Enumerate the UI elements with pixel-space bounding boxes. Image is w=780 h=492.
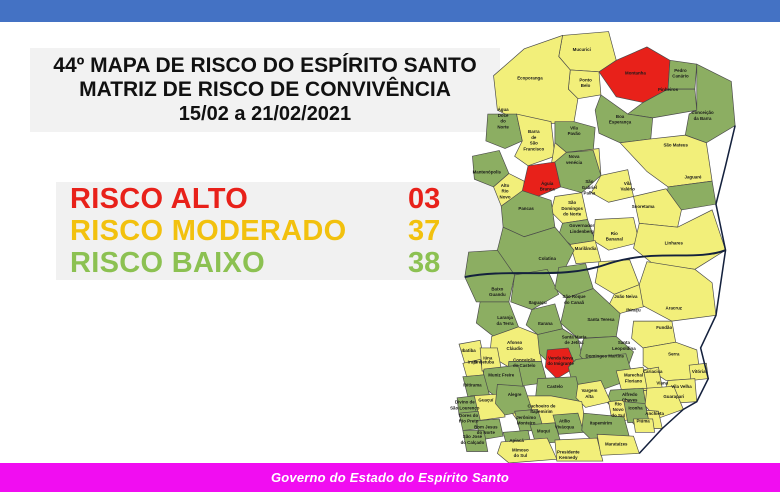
map-label: do xyxy=(500,119,506,124)
municipality-maril-ndia[interactable]: Marilândia xyxy=(570,241,601,264)
map-label: Bom Jesus xyxy=(474,424,498,429)
map-label: Vitória xyxy=(692,369,706,374)
map-label: Francisco xyxy=(523,146,544,151)
map-label: Novo xyxy=(613,407,624,412)
map-label: Norte xyxy=(497,124,509,129)
map-label: Montanha xyxy=(625,71,646,76)
map-label: Monteiro xyxy=(517,421,536,426)
map-label: Palha xyxy=(584,191,596,196)
map-label: Santa Maria xyxy=(562,334,587,339)
map-label: Apiacá xyxy=(509,438,524,443)
map-label: do Imigrante xyxy=(547,361,574,366)
map-label: Itapemirim xyxy=(530,409,552,414)
map-label: Anchieta xyxy=(645,411,664,416)
map-label: Itarana xyxy=(538,321,553,326)
map-label: Vargem xyxy=(581,388,597,393)
map-label: Iúna xyxy=(483,355,493,360)
map-label: Vila xyxy=(570,125,578,130)
map-label: Colatina xyxy=(539,256,557,261)
map-label: do Norte xyxy=(563,212,582,217)
legend-label-baixo: RISCO BAIXO xyxy=(70,247,265,280)
map-label: Leopoldina xyxy=(612,346,636,351)
map-label: Rio xyxy=(611,231,618,236)
map-label: Afonso xyxy=(507,340,522,345)
map-label: Pavão xyxy=(568,131,581,136)
map-label: Ibitirama xyxy=(463,382,482,387)
map-label: Floriano xyxy=(625,378,643,383)
map-label: Muqui xyxy=(537,428,550,433)
map-label: Kennedy xyxy=(559,455,578,460)
map-label: Itapemirim xyxy=(590,421,612,426)
map-label: Aracruz xyxy=(666,306,683,311)
map-label: Baixo xyxy=(491,286,503,291)
map-label: Vila Velha xyxy=(671,384,692,389)
map-label: de Jetibá xyxy=(565,340,585,345)
map-label: Ibiraçu xyxy=(626,308,641,313)
map-label: Ibatiba xyxy=(462,348,477,353)
map-label: Lindenberg xyxy=(570,229,594,234)
map-label: São xyxy=(568,200,576,205)
map-label: Venda Nova xyxy=(548,355,574,360)
map-label: Rio xyxy=(615,401,622,406)
map-label: Ecoporanga xyxy=(517,76,543,81)
map-label: Conceição xyxy=(691,110,714,115)
map-label: Iconha xyxy=(628,405,643,410)
map-label: do Castelo xyxy=(513,363,536,368)
map-label: Marilândia xyxy=(575,246,597,251)
map-label: Marechal xyxy=(624,373,643,378)
map-label: Viana xyxy=(656,380,668,385)
map-label: Governador xyxy=(569,223,594,228)
map-label: Mimoso xyxy=(512,447,529,452)
map-label: Presidente xyxy=(557,449,580,454)
map-label: Barra xyxy=(528,129,540,134)
map-label: Guaçuí xyxy=(478,398,494,403)
map-label: Doce xyxy=(498,113,509,118)
map-label: Sooretama xyxy=(632,204,655,209)
page-title: 44º MAPA DE RISCO DO ESPÍRITO SANTO xyxy=(53,54,476,78)
map-label: Divino de xyxy=(455,400,475,405)
map-label: Gabriel xyxy=(582,185,597,190)
map-label: Novo xyxy=(500,194,511,199)
map-label: Águia xyxy=(541,180,554,186)
map-label: Castelo xyxy=(547,384,563,389)
map-label: Cachoeiro de xyxy=(528,403,556,408)
map-label: Guarapari xyxy=(663,394,684,399)
map-label: Conceição xyxy=(513,357,536,362)
map-label: Belo xyxy=(581,83,591,88)
map-label: Canário xyxy=(672,74,689,79)
map-label: Jaguaré xyxy=(684,174,701,179)
map-label: Dores do xyxy=(459,413,478,418)
map-label: São xyxy=(585,179,593,184)
map-label: do Canaã xyxy=(564,300,584,305)
map-label: do Calçado xyxy=(461,440,485,445)
map-svg: MucuriciPonto BeloMontanhaPedro CanárioP… xyxy=(418,22,780,463)
map-label: Rio xyxy=(501,189,508,194)
map-label: São Mateus xyxy=(663,143,688,148)
map-label: João Neiva xyxy=(614,294,638,299)
map-label: Boa xyxy=(616,114,625,119)
map-label: Mantenópolis xyxy=(473,169,502,174)
map-label: Pancas xyxy=(518,206,534,211)
map-label: Linhares xyxy=(665,240,684,245)
map-label: Laranja xyxy=(497,315,513,320)
map-label: São Lourenço xyxy=(450,405,480,410)
map-label: Domingos Martins xyxy=(586,354,625,359)
map-label: Ponto xyxy=(579,77,592,82)
map-label: venécia xyxy=(566,160,583,165)
map-label: da Terra xyxy=(497,321,515,326)
period-label: 15/02 a 21/02/2021 xyxy=(179,102,351,126)
map-label: Valério xyxy=(621,187,636,192)
map-label: Vivácqua xyxy=(555,424,575,429)
map-label: São Roque xyxy=(563,294,587,299)
footer-bar: Governo do Estado do Espírito Santo xyxy=(0,463,780,492)
map-label: Domingos xyxy=(561,206,583,211)
map-label: do Sul xyxy=(611,413,624,418)
map-label: Alfredo xyxy=(622,392,638,397)
map-label: de xyxy=(531,135,537,140)
map-label: Santa Teresa xyxy=(587,317,615,322)
map-label: Chaves xyxy=(622,398,638,403)
map-label: Muniz Freire xyxy=(488,373,515,378)
map-label: Alta xyxy=(585,394,594,399)
map-label: Atílio xyxy=(559,419,570,424)
legend-label-alto: RISCO ALTO xyxy=(70,183,248,216)
map-label: Fundão xyxy=(656,325,672,330)
map-label: Piúma xyxy=(636,419,650,424)
espirito-santo-risk-map: MucuriciPonto BeloMontanhaPedro CanárioP… xyxy=(418,22,780,463)
map-label: Água xyxy=(498,106,510,112)
map-label: São José xyxy=(463,434,483,439)
map-label: Guandu xyxy=(489,292,506,297)
map-label: Vila xyxy=(624,181,632,186)
map-label: Marataízes xyxy=(605,442,628,447)
legend-label-moderado: RISCO MODERADO xyxy=(70,215,347,248)
map-label: do Sul xyxy=(514,453,527,458)
slide-canvas: 44º MAPA DE RISCO DO ESPÍRITO SANTO MATR… xyxy=(0,0,780,492)
map-label: Rio Preto xyxy=(459,419,479,424)
footer-text: Governo do Estado do Espírito Santo xyxy=(271,470,509,485)
page-subtitle: MATRIZ DE RISCO DE CONVIVÊNCIA xyxy=(79,78,451,102)
map-label: Alto xyxy=(501,183,510,188)
map-label: Branca xyxy=(540,187,555,192)
map-label: Pedro xyxy=(674,68,687,73)
map-label: Serra xyxy=(668,352,680,357)
map-label: Nova xyxy=(569,154,580,159)
municipality-aracruz[interactable]: Aracruz xyxy=(639,262,716,321)
map-label: Mucurici xyxy=(573,47,591,52)
map-label: da Barra xyxy=(694,116,712,121)
map-label: Santa xyxy=(618,340,631,345)
map-label: Jerônimo xyxy=(516,415,536,420)
map-label: Bananal xyxy=(606,237,623,242)
map-label: Itaguaçu xyxy=(529,300,547,305)
top-accent-bar xyxy=(0,0,780,22)
map-label: Esperança xyxy=(609,120,632,125)
map-label: Alegre xyxy=(508,392,522,397)
map-label: Pinheiros xyxy=(658,87,679,92)
map-label: Irupi xyxy=(468,359,478,364)
map-label: Cláudio xyxy=(507,346,523,351)
map-label: São xyxy=(530,141,538,146)
map-label: Cariacica xyxy=(643,369,663,374)
